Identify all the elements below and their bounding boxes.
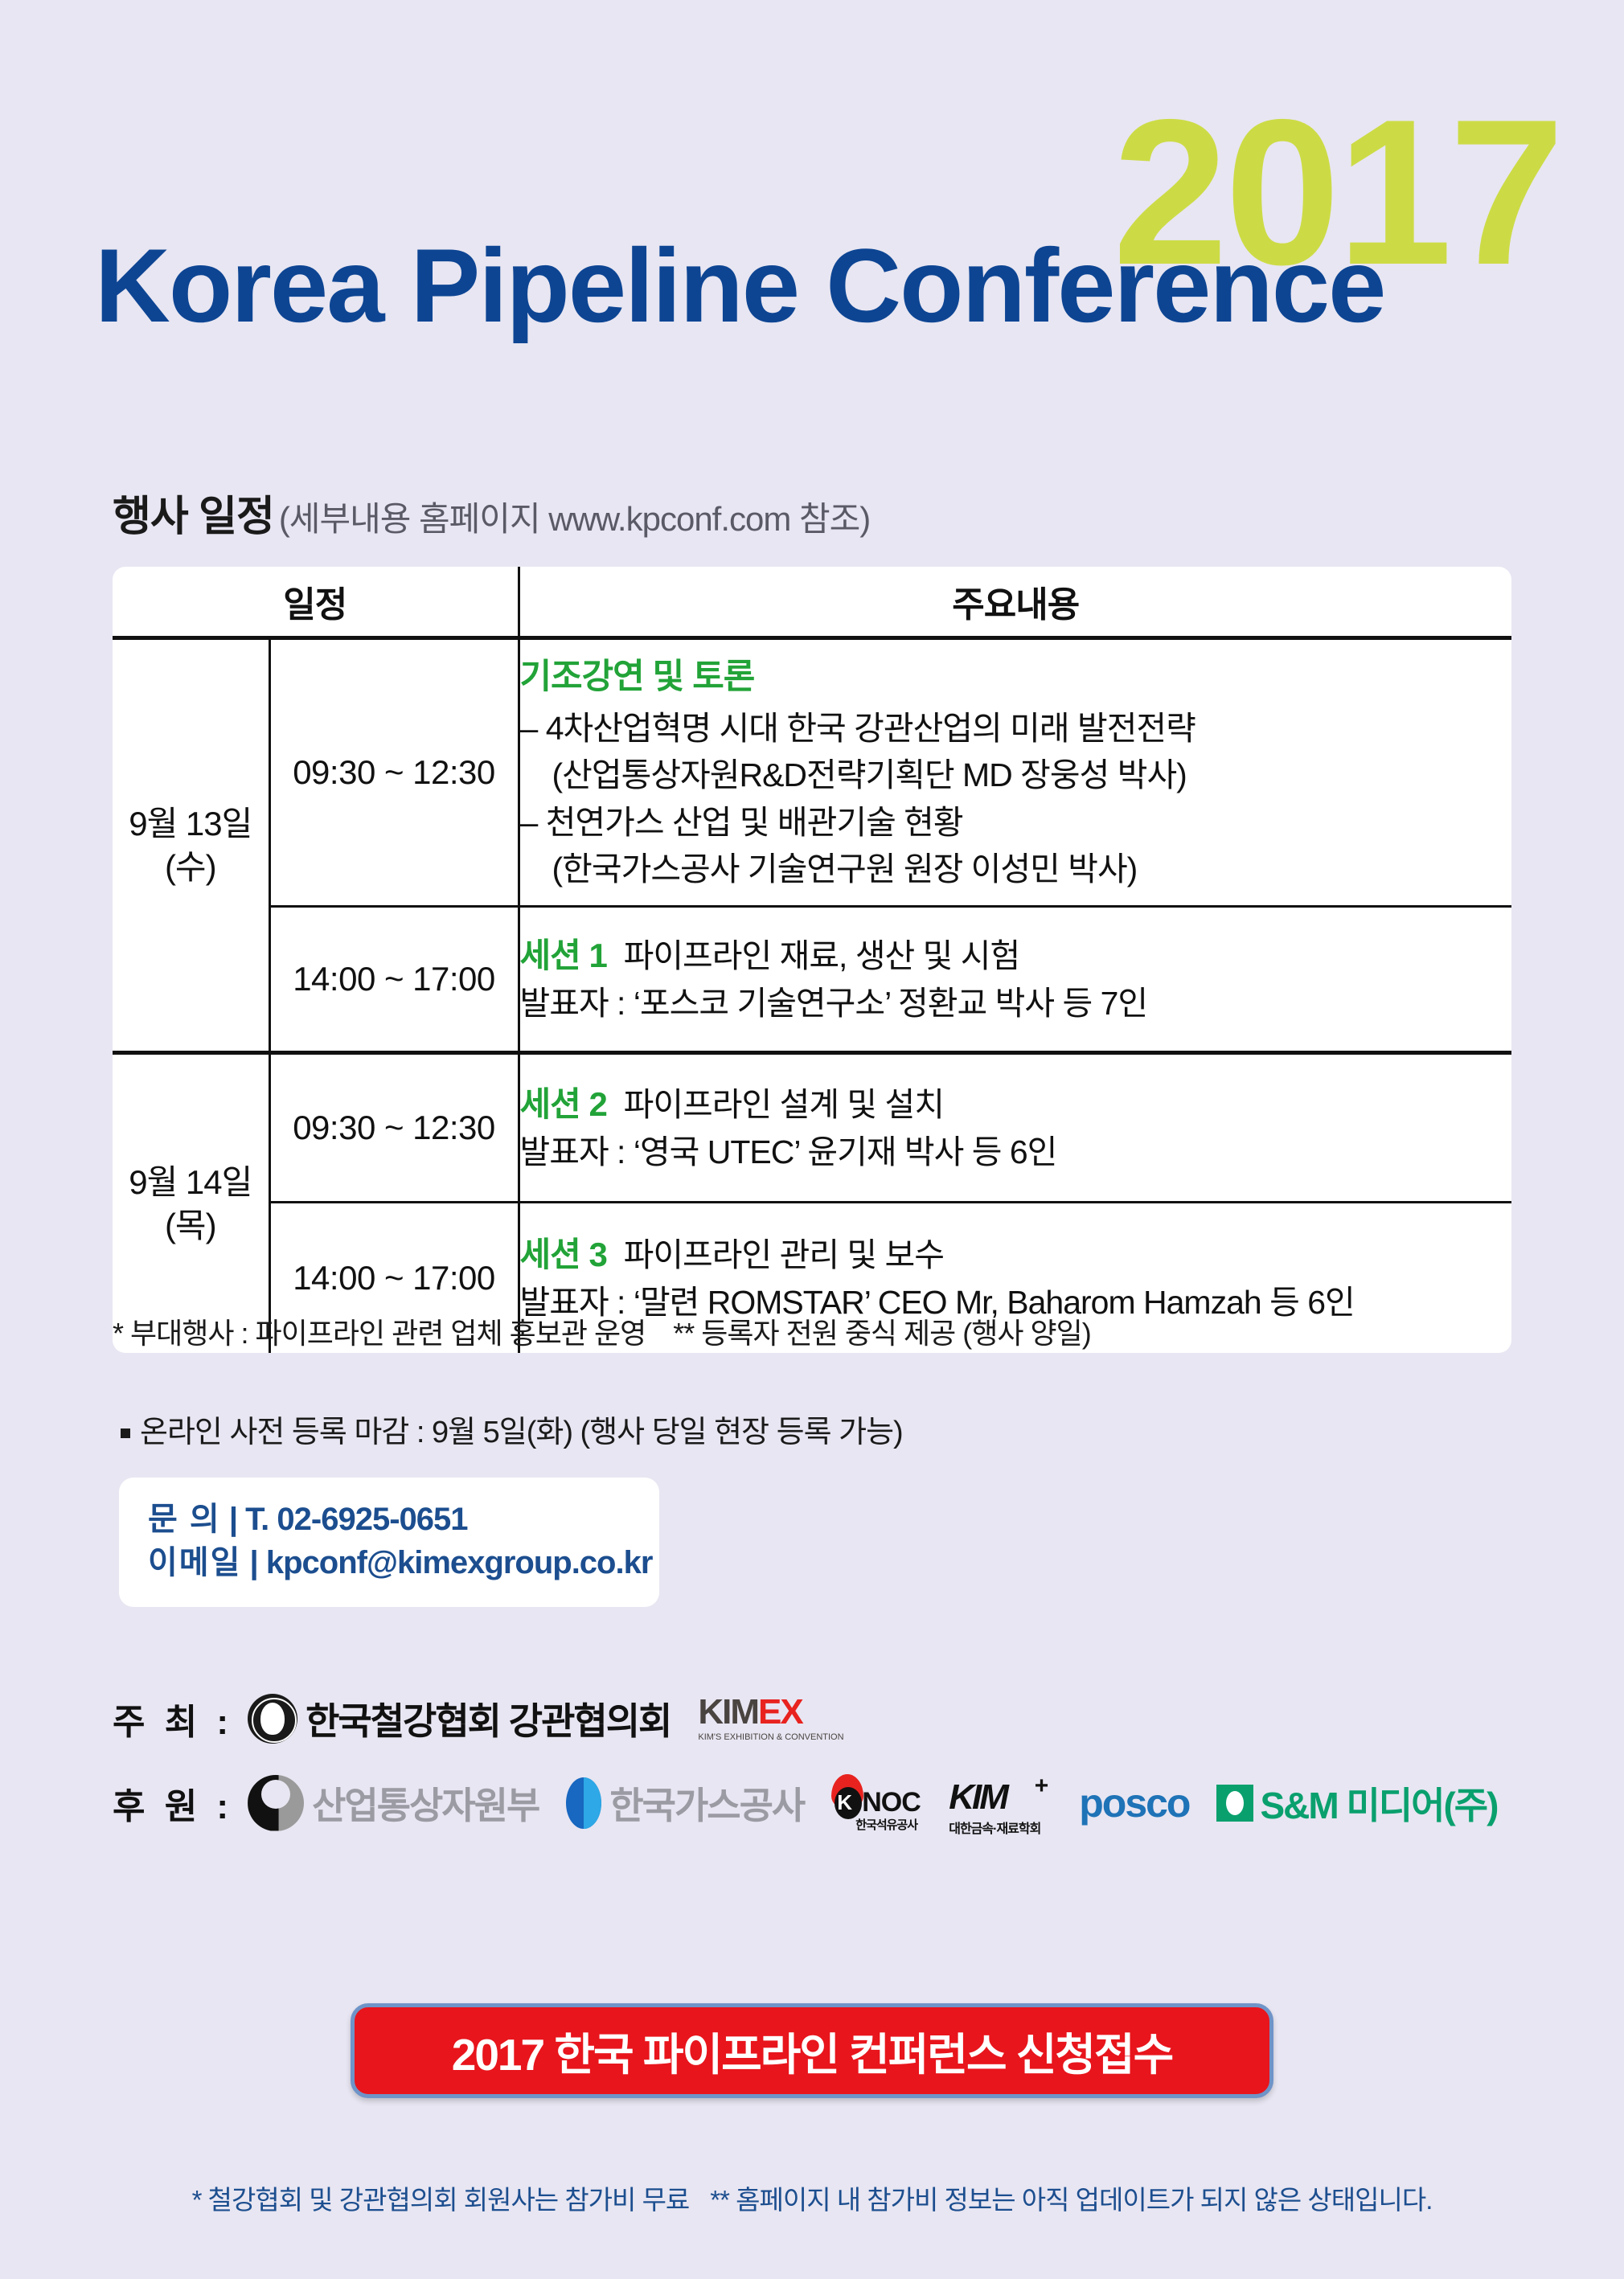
logo-motie: 산업통상자원부 [248, 1775, 539, 1831]
date-cell-day2: 9월 14일 (목) [113, 1053, 269, 1354]
session-3-topic: 파이프라인 관리 및 보수 [624, 1236, 944, 1273]
logo-korea-iron-steel-association: 한국철강협회 강관협의회 [248, 1692, 671, 1745]
kim-logo-icon: KIM + 대한금속·재료학회 [945, 1773, 1052, 1834]
sm-media-logo-icon: S&M 미디어(주) [1216, 1777, 1497, 1830]
detail-cell-session-1: 세션 1 파이프라인 재료, 생산 및 시험 발표자 : ‘포스코 기술연구소’… [519, 907, 1511, 1053]
logo-sm-media: S&M 미디어(주) [1216, 1777, 1497, 1830]
motie-taegeuk-icon [248, 1775, 304, 1831]
session-2-line: 세션 2 파이프라인 설계 및 설치 [520, 1080, 1512, 1129]
kosa-seal-icon [248, 1694, 297, 1744]
sponsor-label: 후 원 : [113, 1777, 233, 1829]
knoc-k-letter: K [837, 1790, 852, 1815]
sm-media-mark-icon [1216, 1785, 1253, 1822]
contact-box: 문 의 | T. 02-6925-0651 이메일 | kpconf@kimex… [119, 1478, 659, 1607]
time-cell: 09:30 ~ 12:30 [269, 1053, 519, 1203]
session-1-topic: 파이프라인 재료, 생산 및 시험 [624, 937, 1020, 974]
contact-divider: | [250, 1545, 258, 1580]
footnote-lunch: ** 등록자 전원 중식 제공 (행사 양일) [673, 1317, 1091, 1350]
kim-plus-icon: + [1035, 1773, 1049, 1800]
sponsor-name-motie: 산업통상자원부 [312, 1777, 539, 1830]
footer-note-fee-update: ** 홈페이지 내 참가비 정보는 아직 업데이트가 되지 않은 상태입니다. [710, 2185, 1432, 2215]
page-title: Korea Pipeline Conference [95, 233, 1384, 338]
knoc-caption: 한국석유공사 [855, 1816, 917, 1833]
logo-kim: KIM + 대한금속·재료학회 [945, 1773, 1052, 1834]
table-row: 14:00 ~ 17:00 세션 1 파이프라인 재료, 생산 및 시험 발표자… [113, 907, 1511, 1053]
host-row: 주 최 : 한국철강협회 강관협의회 KIMEX KIM'S EXHIBITIO… [113, 1676, 1528, 1760]
register-button-label: 2017 한국 파이프라인 컨퍼런스 신청접수 [452, 2019, 1172, 2083]
table-body: 9월 13일 (수) 09:30 ~ 12:30 기조강연 및 토론 – 4차산… [113, 638, 1511, 1354]
poster-header: 2017 Korea Pipeline Conference [0, 0, 1624, 418]
session-1-presenter: 발표자 : ‘포스코 기술연구소’ 정환교 박사 등 7인 [520, 980, 1512, 1027]
contact-phone-line: 문 의 | T. 02-6925-0651 [148, 1498, 659, 1542]
footnote-side-event: * 부대행사 : 파이프라인 관련 업체 홍보관 운영 [113, 1317, 646, 1350]
registration-deadline: 온라인 사전 등록 마감 : 9월 5일(화) (행사 당일 현장 등록 가능) [121, 1407, 903, 1451]
sm-media-wordmark: S&M 미디어(주) [1260, 1777, 1497, 1830]
session-2-label: 세션 2 [520, 1085, 607, 1123]
date-cell-day1: 9월 13일 (수) [113, 638, 269, 1053]
registration-deadline-text: 온라인 사전 등록 마감 : 9월 5일(화) (행사 당일 현장 등록 가능) [140, 1416, 903, 1449]
session-1-label: 세션 1 [520, 937, 607, 974]
logo-knoc: K NOC 한국석유공사 [831, 1774, 918, 1832]
table-header: 일정 주요내용 [113, 567, 1511, 638]
logo-posco: posco [1079, 1780, 1189, 1826]
keynote-line-1: – 4차산업혁명 시대 한국 강관산업의 미래 발전전략 [520, 705, 1512, 752]
footer-notes: * 철강협회 및 강관협의회 회원사는 참가비 무료** 홈페이지 내 참가비 … [192, 2179, 1433, 2217]
logo-kimex: KIMEX KIM'S EXHIBITION & CONVENTION [698, 1695, 843, 1742]
session-3-label: 세션 3 [520, 1236, 607, 1273]
date-label: 9월 14일 [129, 1163, 252, 1201]
detail-cell-keynote: 기조강연 및 토론 – 4차산업혁명 시대 한국 강관산업의 미래 발전전략 (… [519, 638, 1511, 907]
session-2-topic: 파이프라인 설계 및 설치 [624, 1086, 944, 1123]
weekday-label: (수) [165, 848, 216, 886]
kim-caption: 대한금속·재료학회 [949, 1818, 1040, 1837]
schedule-heading-strong: 행사 일정 [113, 494, 274, 540]
contact-email-line: 이메일 | kpconf@kimexgroup.co.kr [148, 1542, 659, 1585]
keynote-line-3: – 천연가스 산업 및 배관기술 현황 [520, 799, 1512, 846]
schedule-heading-sub: (세부내용 홈페이지 www.kpconf.com 참조) [279, 500, 870, 538]
time-cell: 09:30 ~ 12:30 [269, 638, 519, 907]
contact-divider: | [229, 1502, 237, 1537]
sponsor-name-kogas: 한국가스공사 [609, 1777, 804, 1830]
kimex-logo-ex: EX [758, 1692, 802, 1732]
kimex-logo-icon: KIMEX KIM'S EXHIBITION & CONVENTION [698, 1695, 843, 1742]
table-footnotes: * 부대행사 : 파이프라인 관련 업체 홍보관 운영** 등록자 전원 중식 … [113, 1310, 1091, 1352]
keynote-heading: 기조강연 및 토론 [520, 653, 1512, 702]
detail-cell-session-2: 세션 2 파이프라인 설계 및 설치 발표자 : ‘영국 UTEC’ 윤기재 박… [519, 1053, 1511, 1203]
kimex-logo-kim: KIM [698, 1692, 758, 1732]
organizers-block: 주 최 : 한국철강협회 강관협의회 KIMEX KIM'S EXHIBITIO… [113, 1676, 1528, 1845]
column-header-schedule: 일정 [113, 567, 519, 638]
contact-email-label: 이메일 [148, 1545, 241, 1580]
weekday-label: (목) [165, 1207, 216, 1244]
date-label: 9월 13일 [129, 805, 252, 842]
keynote-line-4: (한국가스공사 기술연구원 원장 이성민 박사) [520, 846, 1512, 892]
kimex-tagline: KIM'S EXHIBITION & CONVENTION [698, 1733, 843, 1742]
knoc-logo-icon: K NOC 한국석유공사 [831, 1774, 918, 1832]
knoc-noc-letters: NOC [862, 1787, 921, 1818]
session-1-line: 세션 1 파이프라인 재료, 생산 및 시험 [520, 932, 1512, 980]
logo-kogas: 한국가스공사 [566, 1777, 804, 1830]
host-name-kosa: 한국철강협회 강관협의회 [306, 1692, 671, 1745]
session-3-line: 세션 3 파이프라인 관리 및 보수 [520, 1231, 1512, 1279]
session-2-presenter: 발표자 : ‘영국 UTEC’ 윤기재 박사 등 6인 [520, 1129, 1512, 1175]
schedule-table-wrapper: 일정 주요내용 9월 13일 (수) 09:30 ~ 12:30 기조강연 및 … [113, 567, 1511, 1353]
footer-note-members: * 철강협회 및 강관협의회 회원사는 참가비 무료 [192, 2185, 690, 2215]
bullet-icon [121, 1428, 130, 1438]
keynote-line-2: (산업통상자원R&D전략기획단 MD 장웅성 박사) [520, 752, 1512, 798]
sponsor-row: 후 원 : 산업통상자원부 한국가스공사 K NOC 한국석유공사 KIM + [113, 1760, 1528, 1845]
table-row: 9월 14일 (목) 09:30 ~ 12:30 세션 2 파이프라인 설계 및… [113, 1053, 1511, 1203]
host-label: 주 최 : [113, 1693, 233, 1744]
table-row: 9월 13일 (수) 09:30 ~ 12:30 기조강연 및 토론 – 4차산… [113, 638, 1511, 907]
register-button[interactable]: 2017 한국 파이프라인 컨퍼런스 신청접수 [351, 2003, 1273, 2098]
kim-letters: KIM [949, 1777, 1007, 1818]
schedule-heading: 행사 일정(세부내용 홈페이지 www.kpconf.com 참조) [113, 482, 870, 543]
contact-email-value[interactable]: kpconf@kimexgroup.co.kr [266, 1545, 653, 1580]
schedule-table: 일정 주요내용 9월 13일 (수) 09:30 ~ 12:30 기조강연 및 … [113, 567, 1511, 1353]
posco-wordmark: posco [1079, 1780, 1189, 1826]
column-header-content: 주요내용 [519, 567, 1511, 638]
time-cell: 14:00 ~ 17:00 [269, 907, 519, 1053]
contact-phone-label: 문 의 [148, 1502, 221, 1537]
kogas-flame-icon [566, 1777, 601, 1829]
contact-phone-value[interactable]: T. 02-6925-0651 [245, 1502, 467, 1537]
